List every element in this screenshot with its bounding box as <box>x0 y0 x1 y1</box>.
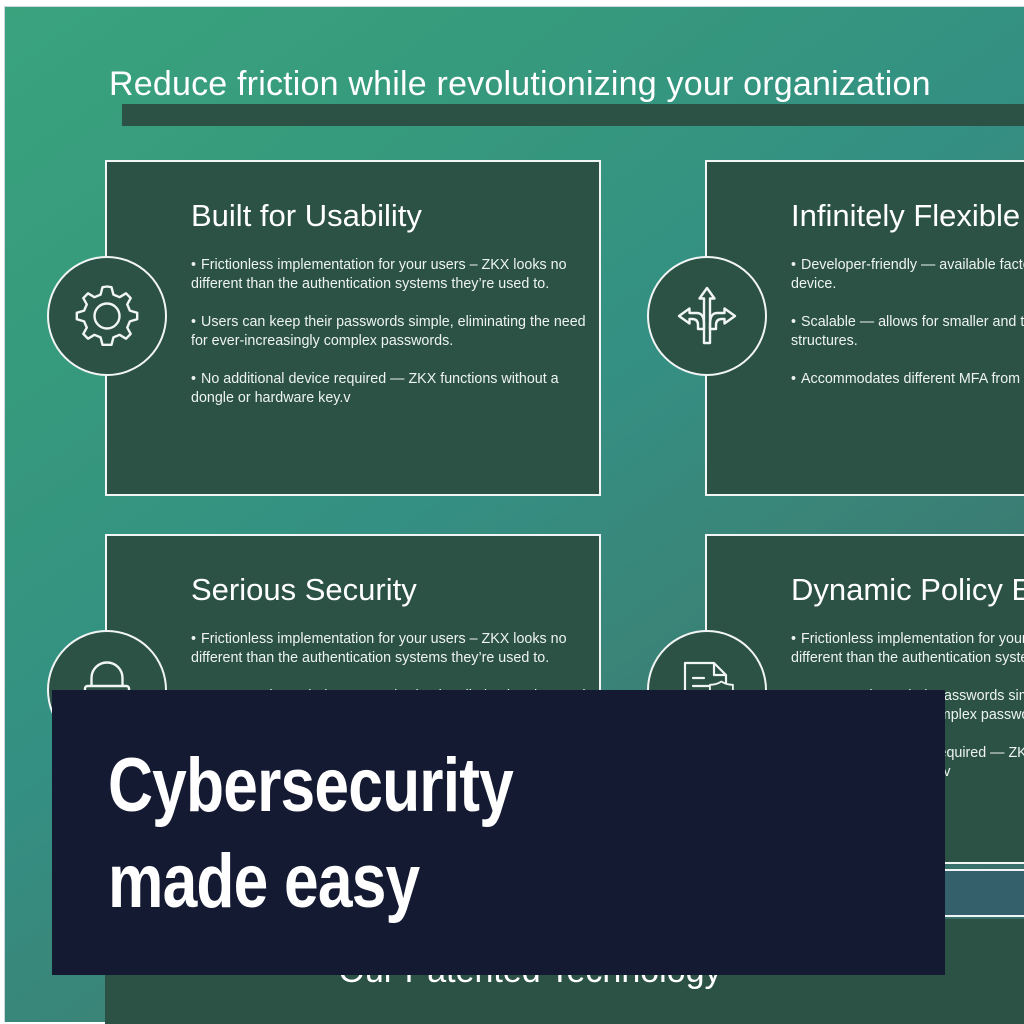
card-bullet: •Users can keep their passwords simple, … <box>191 313 591 351</box>
bullet-text: Frictionless implementation for your use… <box>791 631 1024 666</box>
card-title: Dynamic Policy Enforcement <box>791 572 1024 608</box>
feature-card-built-for-usability[interactable]: Built for Usability •Frictionless implem… <box>105 160 601 496</box>
card-bullet: •No additional device required — ZKX fun… <box>191 370 591 408</box>
bullet-text: Users can keep their passwords simple, e… <box>191 314 586 349</box>
bullet-dot: • <box>191 314 196 330</box>
bullet-text: No additional device required — ZKX func… <box>191 371 559 406</box>
card-title: Infinitely Flexible <box>791 198 1020 234</box>
card-bullet: •Frictionless implementation for your us… <box>191 630 591 668</box>
card-bullet: •Developer-friendly — available factors … <box>791 256 1024 294</box>
page-title: Reduce friction while revolutionizing yo… <box>109 65 1024 104</box>
card-title: Serious Security <box>191 572 417 608</box>
bullet-dot: • <box>791 314 796 330</box>
bullet-dot: • <box>791 257 796 273</box>
card-bullet: •Frictionless implementation for your us… <box>791 630 1024 668</box>
bullet-dot: • <box>191 257 196 273</box>
card-bullet: •Frictionless implementation for your us… <box>191 256 591 294</box>
bullet-text: Frictionless implementation for your use… <box>191 257 567 292</box>
card-title: Built for Usability <box>191 198 422 234</box>
cybersecurity-overlay-card[interactable]: Cybersecurity made easy <box>52 690 945 975</box>
bullet-text: Frictionless implementation for your use… <box>191 631 567 666</box>
bullet-dot: • <box>191 371 196 387</box>
three-way-arrows-icon <box>647 256 767 376</box>
bullet-dot: • <box>791 631 796 647</box>
gear-icon <box>47 256 167 376</box>
title-underline-band <box>122 104 1024 126</box>
bullet-text: Developer-friendly — available factors t… <box>791 257 1024 292</box>
feature-card-infinitely-flexible[interactable]: Infinitely Flexible •Developer-friendly … <box>705 160 1024 496</box>
card-bullet: •Scalable — allows for smaller and to bu… <box>791 313 1024 351</box>
card-body: •Frictionless implementation for your us… <box>191 256 591 408</box>
bullet-dot: • <box>791 371 796 387</box>
card-bullet: •Accommodates different MFA from passwor… <box>791 370 1024 389</box>
bullet-text: Accommodates different MFA from password… <box>801 371 1024 387</box>
slide-root: Reduce friction while revolutionizing yo… <box>0 0 1024 1024</box>
bullet-dot: • <box>191 631 196 647</box>
overlay-headline: Cybersecurity made easy <box>108 738 513 930</box>
bullet-text: Scalable — allows for smaller and to bui… <box>791 314 1024 349</box>
card-body: •Developer-friendly — available factors … <box>791 256 1024 389</box>
